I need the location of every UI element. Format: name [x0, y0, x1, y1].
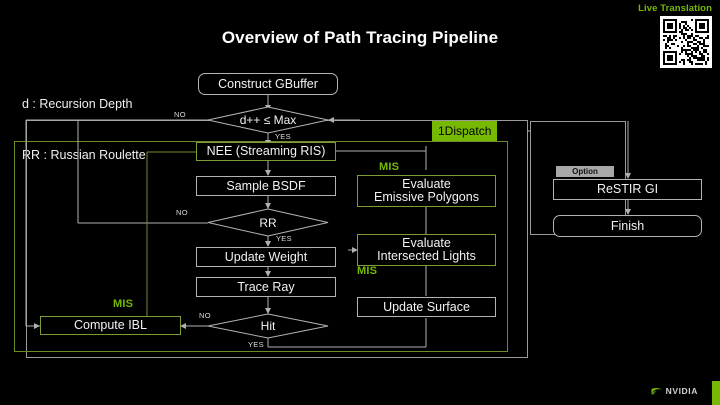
edge-label-rr-no: NO	[176, 208, 188, 217]
node-finish[interactable]: Finish	[553, 215, 702, 237]
decision-rr-label: RR	[208, 209, 328, 236]
node-update-surface[interactable]: Update Surface	[357, 297, 496, 317]
node-evaluate-emissive-line2: Emissive Polygons	[374, 191, 479, 204]
node-nee[interactable]: NEE (Streaming RIS)	[196, 142, 336, 161]
node-compute-ibl[interactable]: Compute IBL	[40, 316, 181, 335]
decision-rr[interactable]: RR	[208, 209, 328, 236]
node-evaluate-intersected-lights[interactable]: Evaluate Intersected Lights	[357, 234, 496, 266]
edge-label-depth-no: NO	[174, 110, 186, 119]
decision-depth-check[interactable]: d++ ≤ Max	[208, 107, 328, 133]
dispatch-tag: 1Dispatch	[432, 121, 497, 141]
nvidia-eye-icon	[650, 387, 663, 396]
edge-label-depth-yes: YES	[275, 132, 291, 141]
node-update-weight[interactable]: Update Weight	[196, 247, 336, 267]
mis-label-ibl: MIS	[113, 298, 133, 310]
mis-label-emissive: MIS	[379, 161, 399, 173]
node-trace-ray[interactable]: Trace Ray	[196, 277, 336, 297]
decision-hit[interactable]: Hit	[208, 314, 328, 338]
node-construct-gbuffer[interactable]: Construct GBuffer	[198, 73, 338, 95]
edge-label-hit-yes: YES	[248, 340, 264, 349]
nvidia-logo: NVIDIA	[650, 386, 698, 396]
decision-depth-label: d++ ≤ Max	[208, 107, 328, 133]
brand-accent-bar	[712, 381, 720, 405]
node-sample-bsdf[interactable]: Sample BSDF	[196, 176, 336, 196]
slide-canvas: Overview of Path Tracing Pipeline d : Re…	[0, 0, 720, 405]
mis-label-lights: MIS	[357, 265, 377, 277]
decision-hit-label: Hit	[208, 314, 328, 338]
edge-label-hit-no: NO	[199, 311, 211, 320]
option-tag: Option	[556, 166, 614, 177]
edge-label-rr-yes: YES	[276, 234, 292, 243]
nvidia-wordmark: NVIDIA	[666, 386, 698, 396]
node-evaluate-emissive-polygons[interactable]: Evaluate Emissive Polygons	[357, 175, 496, 207]
node-restir-gi[interactable]: ReSTIR GI	[553, 179, 702, 200]
node-evaluate-lights-line2: Intersected Lights	[377, 250, 476, 263]
